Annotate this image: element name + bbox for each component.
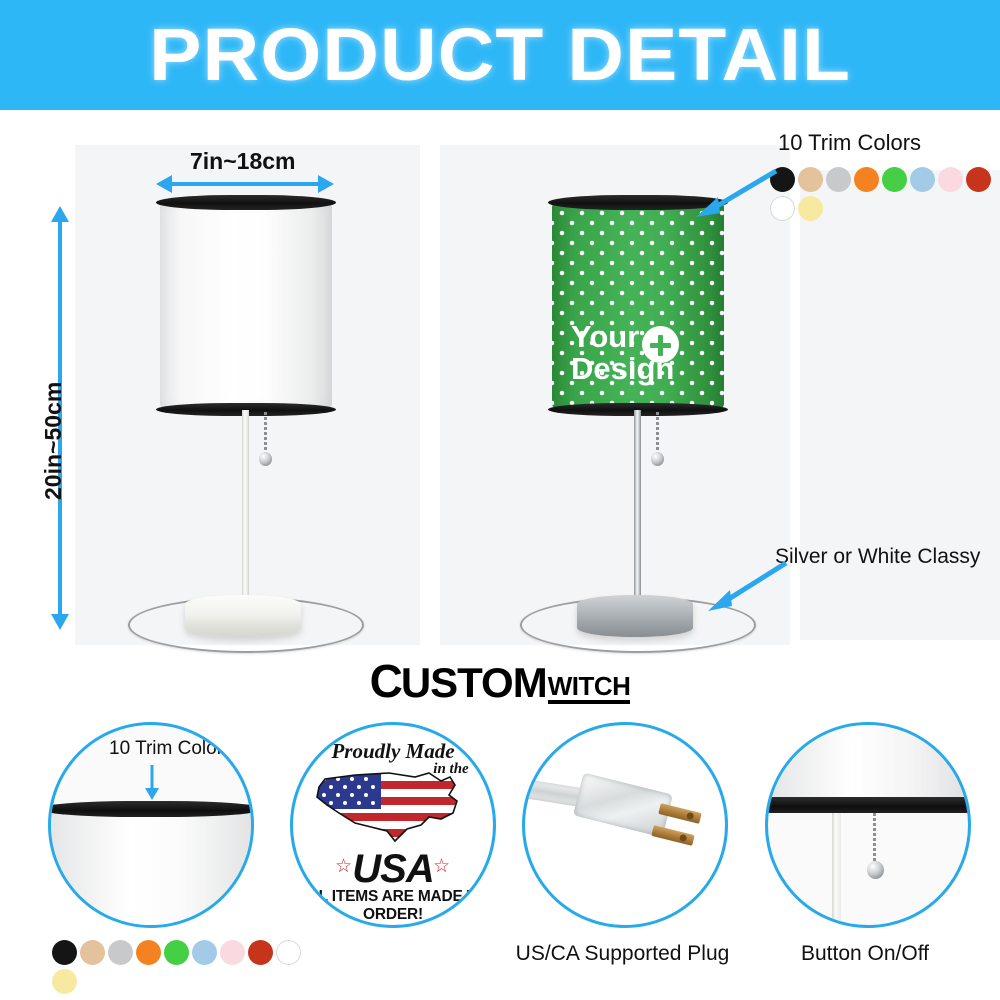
product-detail-page: PRODUCT DETAIL Your D	[0, 0, 1000, 1000]
usa-star-left-icon: ☆	[335, 855, 352, 878]
page-title: PRODUCT DETAIL	[149, 18, 851, 92]
base-finish-arrow-icon	[700, 555, 790, 615]
trim-colors-swatch-row	[770, 167, 1000, 225]
trim-swatch-gray[interactable]	[826, 167, 851, 192]
silver-lamp-pull-chain	[656, 412, 659, 456]
trim-swatch-red[interactable]	[248, 940, 273, 965]
hero-section: Your Design 7in~18cm 20in~	[0, 110, 1000, 655]
trim-swatch-tan[interactable]	[798, 167, 823, 192]
height-dimension-label: 20in~50cm	[40, 382, 67, 500]
page-header-banner: PRODUCT DETAIL	[0, 0, 1000, 110]
white-lamp-pole	[242, 410, 249, 610]
brand-name-sub: WITCH	[548, 673, 631, 704]
trim-down-arrow-icon	[144, 765, 160, 801]
switch-chain-ball-icon	[867, 861, 884, 879]
plug-prong-lower-icon	[651, 825, 694, 846]
trim-swatch-yellow[interactable]	[52, 969, 77, 994]
bottom-trim-colors-swatch-row	[52, 940, 304, 998]
trim-swatch-pink[interactable]	[220, 940, 245, 965]
white-lamp-shade	[160, 203, 332, 408]
silver-lamp-chain-ball-icon	[651, 452, 664, 466]
feature-switch-caption: Button On/Off	[745, 942, 985, 966]
right-edge-panel	[800, 170, 1000, 640]
width-arrow-left-icon	[156, 175, 172, 193]
height-arrow-up-icon	[51, 206, 69, 222]
trim-swatch-green[interactable]	[882, 167, 907, 192]
feature-trim-label: 10 Trim Colors	[109, 738, 233, 760]
trim-swatch-green[interactable]	[164, 940, 189, 965]
trim-swatch-light-blue[interactable]	[910, 167, 935, 192]
usa-big-text: USA	[293, 847, 493, 892]
height-arrow-down-icon	[51, 614, 69, 630]
trim-swatch-orange[interactable]	[854, 167, 879, 192]
switch-pole-icon	[832, 813, 841, 925]
feature-circle-made-in-usa: Proudly Made in the	[290, 722, 496, 928]
trim-swatch-gray[interactable]	[108, 940, 133, 965]
switch-trim-icon	[765, 797, 971, 813]
white-lamp-chain-ball-icon	[259, 452, 272, 466]
trim-swatch-light-blue[interactable]	[192, 940, 217, 965]
green-lamp-shade: Your Design	[552, 203, 724, 408]
white-lamp-pull-chain	[264, 412, 267, 456]
trim-callout-arrow-icon	[690, 165, 780, 220]
feature-circle-trim-colors: 10 Trim Colors	[48, 722, 254, 928]
feature-plug-caption: US/CA Supported Plug	[500, 942, 745, 966]
white-lamp-base	[185, 595, 301, 637]
feature-circle-plug	[522, 722, 728, 928]
trim-swatch-black[interactable]	[52, 940, 77, 965]
plus-circle-icon	[642, 326, 679, 363]
silver-lamp-pole	[634, 410, 641, 610]
shade-trim-top-icon	[156, 195, 336, 210]
base-finish-callout-label: Silver or White Classy	[775, 545, 980, 569]
design-line-1: Your	[571, 319, 639, 354]
trim-swatch-white[interactable]	[276, 940, 301, 965]
feature-circle-switch	[765, 722, 971, 928]
usa-footer-text: ALL ITEMS ARE MADE TO ORDER!	[293, 888, 493, 924]
usa-star-right-icon: ☆	[433, 855, 450, 878]
brand-name-main: USTOM	[401, 662, 547, 704]
width-arrow-right-icon	[318, 175, 334, 193]
trim-swatch-tan[interactable]	[80, 940, 105, 965]
trim-closeup-icon	[48, 801, 254, 817]
silver-lamp-base	[577, 595, 693, 637]
trim-swatch-orange[interactable]	[136, 940, 161, 965]
width-dimension-line	[170, 182, 322, 186]
usa-map-flag-icon	[309, 765, 477, 847]
trim-swatch-yellow[interactable]	[798, 196, 823, 221]
trim-swatch-pink[interactable]	[938, 167, 963, 192]
brand-logo: C USTOM WITCH	[0, 660, 1000, 704]
shade-surface	[160, 203, 332, 408]
trim-swatch-red[interactable]	[966, 167, 991, 192]
brand-initial: C	[370, 660, 401, 704]
width-dimension-label: 7in~18cm	[190, 148, 296, 175]
switch-pull-chain-icon	[873, 813, 876, 865]
trim-colors-callout-label: 10 Trim Colors	[778, 130, 921, 156]
